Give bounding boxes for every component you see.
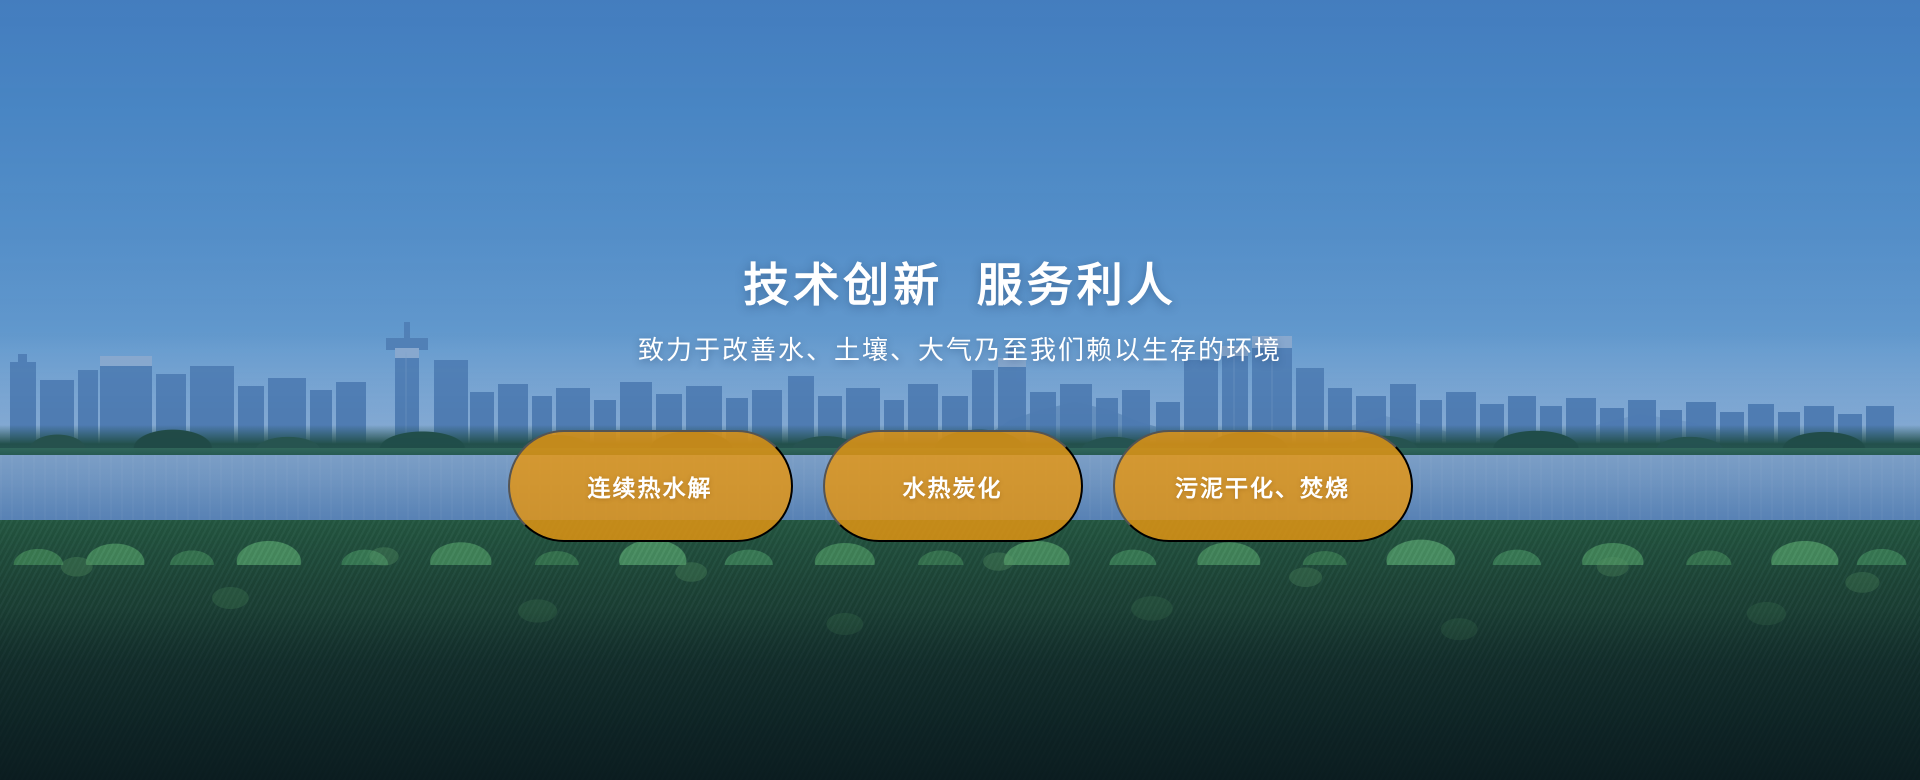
category-button-continuous-thermal-hydrolysis[interactable]: 连续热水解 [508, 430, 793, 542]
page-subtitle: 致力于改善水、土壤、大气乃至我们赖以生存的环境 [638, 334, 1282, 368]
category-button-sludge-drying-incineration[interactable]: 污泥干化、焚烧 [1113, 430, 1413, 542]
category-button-row: 连续热水解 水热炭化 污泥干化、焚烧 [508, 430, 1413, 542]
hero-content: 技术创新 服务利人 致力于改善水、土壤、大气乃至我们赖以生存的环境 连续热水解 … [0, 0, 1920, 780]
hero-banner: 技术创新 服务利人 致力于改善水、土壤、大气乃至我们赖以生存的环境 连续热水解 … [0, 0, 1920, 780]
page-title: 技术创新 服务利人 [743, 258, 1177, 312]
category-button-hydrothermal-carbonization[interactable]: 水热炭化 [823, 430, 1083, 542]
